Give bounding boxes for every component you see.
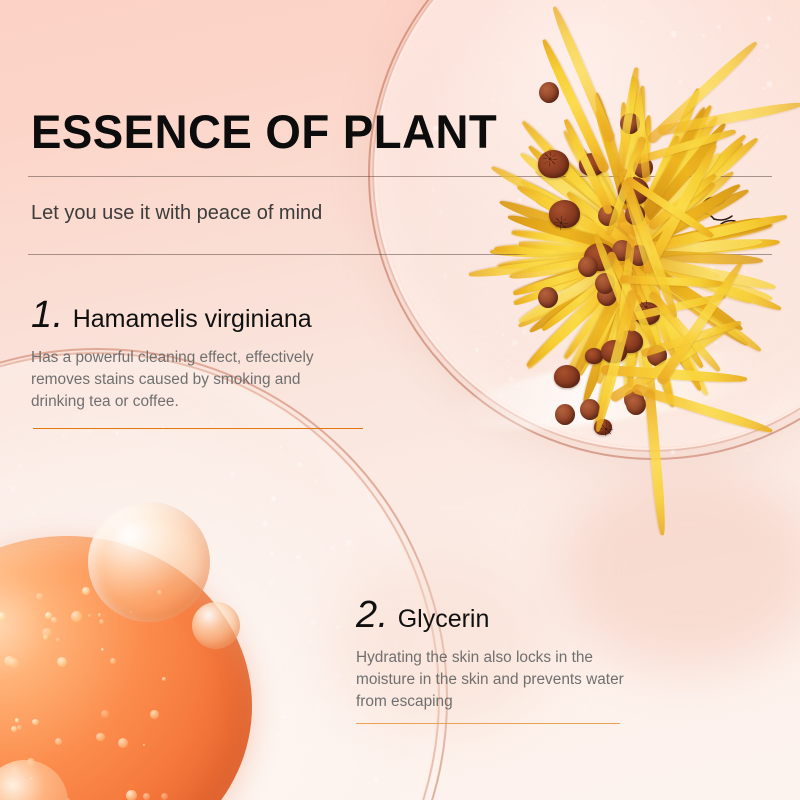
page-title: ESSENCE OF PLANT (31, 108, 497, 155)
ingredient-1-description: Has a powerful cleaning effect, effectiv… (31, 347, 371, 413)
ingredient-2-description: Hydrating the skin also locks in the moi… (356, 647, 686, 713)
ingredient-1-name: Hamamelis virginiana (73, 307, 312, 332)
ingredient-2-accent-underline (356, 723, 620, 724)
ingredient-2-heading: 2. Glycerin (356, 596, 686, 634)
page-subtitle: Let you use it with peace of mind (31, 203, 322, 223)
ingredient-1-number: 1. (31, 296, 64, 334)
ingredient-2-number: 2. (356, 596, 389, 634)
ingredient-section-2: 2. Glycerin Hydrating the skin also lock… (356, 596, 686, 713)
ingredient-1-heading: 1. Hamamelis virginiana (31, 296, 371, 334)
ingredient-section-1: 1. Hamamelis virginiana Has a powerful c… (31, 296, 371, 413)
divider-bottom (28, 254, 772, 255)
poster-content: ESSENCE OF PLANT Let you use it with pea… (0, 0, 800, 800)
divider-top (28, 176, 772, 177)
ingredient-1-accent-underline (33, 428, 363, 429)
product-ingredient-poster: ESSENCE OF PLANT Let you use it with pea… (0, 0, 800, 800)
ingredient-2-name: Glycerin (398, 607, 490, 632)
